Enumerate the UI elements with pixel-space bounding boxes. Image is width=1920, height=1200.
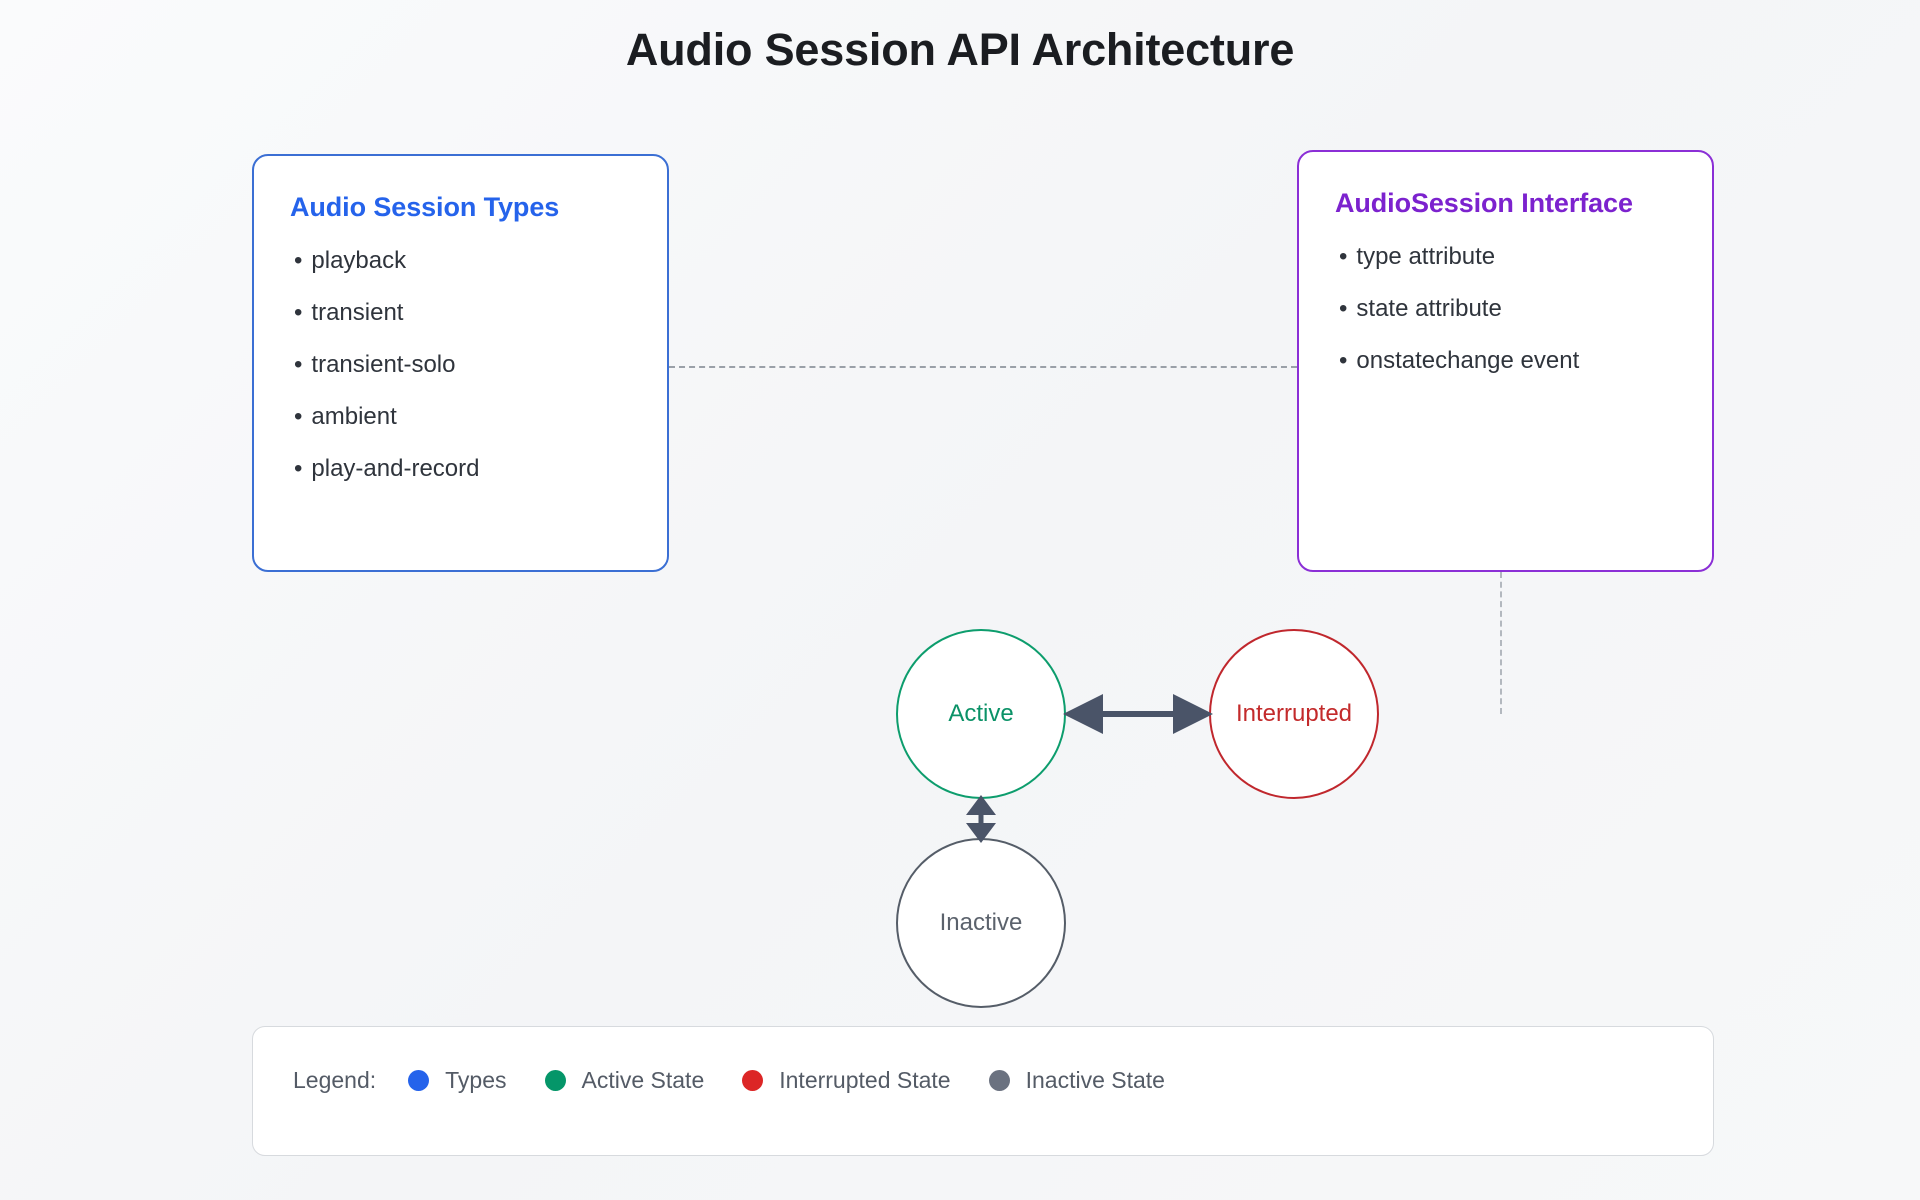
state-node-interrupted[interactable]: Interrupted — [1209, 629, 1379, 799]
connector-interface-to-states — [1500, 572, 1502, 714]
legend-dot-icon — [742, 1070, 763, 1091]
list-item-label: playback — [311, 247, 406, 274]
bullet-icon: • — [1339, 243, 1347, 270]
state-node-label: Active — [948, 700, 1013, 728]
bullet-icon: • — [1339, 347, 1347, 374]
page-title: Audio Session API Architecture — [0, 24, 1920, 76]
legend-dot-icon — [408, 1070, 429, 1091]
legend-item-label: Interrupted State — [779, 1067, 950, 1094]
legend-row: Legend: Types Active State Interrupted S… — [293, 1067, 1713, 1094]
legend-label: Legend: — [293, 1067, 376, 1094]
legend-panel: Legend: Types Active State Interrupted S… — [252, 1026, 1714, 1156]
bullet-icon: • — [294, 403, 302, 430]
state-node-label: Interrupted — [1236, 700, 1352, 728]
legend-item-label: Active State — [582, 1067, 705, 1094]
list-item: •type attribute — [1339, 245, 1712, 269]
list-item-label: ambient — [311, 403, 396, 430]
legend-item-label: Inactive State — [1026, 1067, 1165, 1094]
card-title-types: Audio Session Types — [290, 192, 667, 223]
bullet-icon: • — [294, 351, 302, 378]
card-audiosession-interface: AudioSession Interface •type attribute •… — [1297, 150, 1714, 572]
list-item: •transient-solo — [294, 353, 667, 377]
interface-list: •type attribute •state attribute •onstat… — [1299, 245, 1712, 373]
card-title-interface: AudioSession Interface — [1335, 188, 1712, 219]
legend-item-inactive-state: Inactive State — [989, 1067, 1165, 1094]
list-item-label: onstatechange event — [1356, 347, 1579, 374]
list-item: •playback — [294, 249, 667, 273]
state-node-inactive[interactable]: Inactive — [896, 838, 1066, 1008]
legend-item-types: Types — [408, 1067, 506, 1094]
arrow-active-inactive-icon — [957, 795, 1005, 843]
legend-item-label: Types — [445, 1067, 506, 1094]
bullet-icon: • — [294, 299, 302, 326]
connector-types-to-interface — [669, 366, 1297, 368]
legend-item-interrupted-state: Interrupted State — [742, 1067, 950, 1094]
list-item: •onstatechange event — [1339, 349, 1712, 373]
legend-item-active-state: Active State — [545, 1067, 705, 1094]
state-node-label: Inactive — [940, 909, 1023, 937]
list-item-label: state attribute — [1356, 295, 1501, 322]
list-item: •transient — [294, 301, 667, 325]
card-audio-session-types: Audio Session Types •playback •transient… — [252, 154, 669, 572]
bullet-icon: • — [294, 247, 302, 274]
arrow-active-interrupted-icon — [1063, 690, 1213, 738]
list-item: •ambient — [294, 405, 667, 429]
list-item: •play-and-record — [294, 457, 667, 481]
list-item: •state attribute — [1339, 297, 1712, 321]
legend-dot-icon — [989, 1070, 1010, 1091]
legend-dot-icon — [545, 1070, 566, 1091]
state-node-active[interactable]: Active — [896, 629, 1066, 799]
types-list: •playback •transient •transient-solo •am… — [254, 249, 667, 481]
list-item-label: transient-solo — [311, 351, 455, 378]
bullet-icon: • — [294, 455, 302, 482]
bullet-icon: • — [1339, 295, 1347, 322]
list-item-label: play-and-record — [311, 455, 479, 482]
list-item-label: transient — [311, 299, 403, 326]
list-item-label: type attribute — [1356, 243, 1495, 270]
